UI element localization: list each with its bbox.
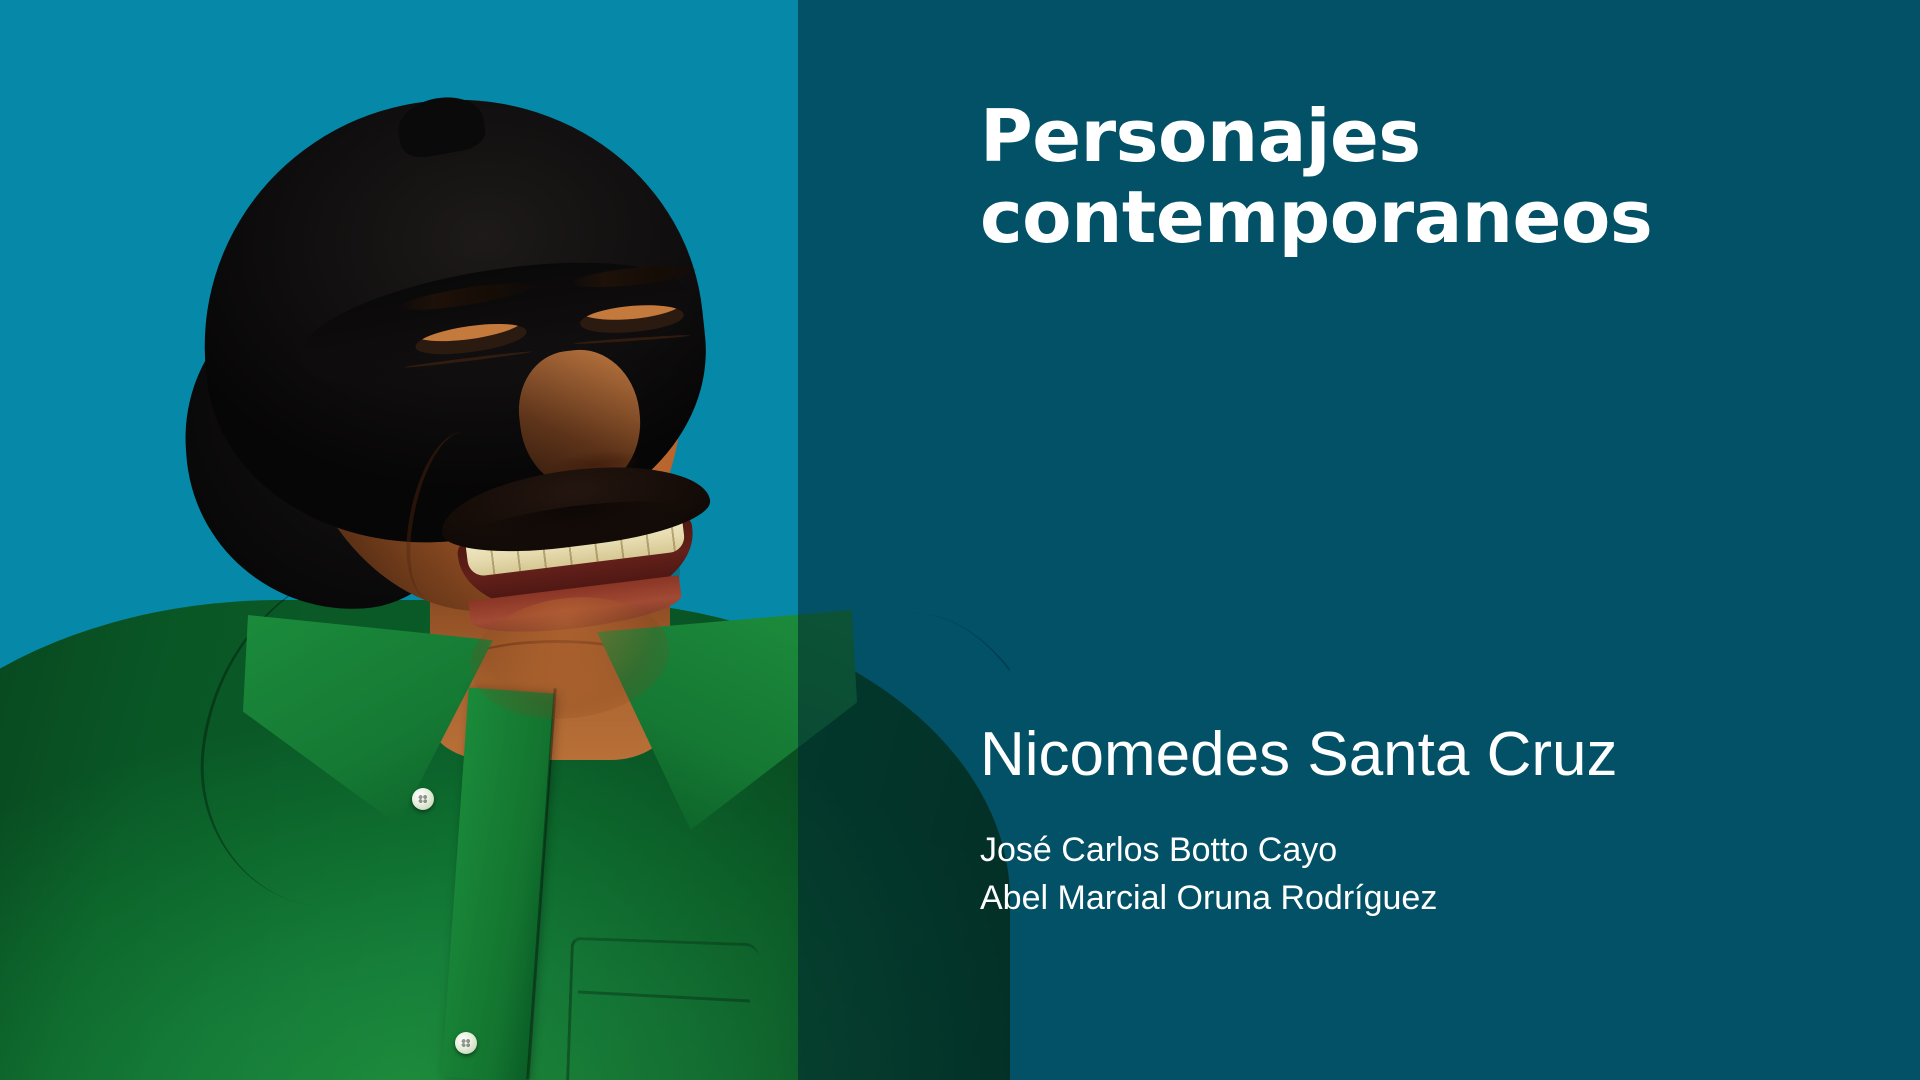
shirt-button-upper — [412, 788, 434, 810]
page-title-line-1: Personajes — [980, 96, 1860, 177]
subject-name: Nicomedes Santa Cruz — [980, 722, 1860, 787]
title-slide: Personajes contemporaneos Nicomedes Sant… — [0, 0, 1920, 1080]
shirt-chest-pocket — [565, 937, 759, 1080]
page-title-line-2: contemporaneos — [980, 177, 1860, 258]
text-column: Personajes contemporaneos Nicomedes Sant… — [980, 0, 1860, 1080]
author-name-1: José Carlos Botto Cayo — [980, 826, 1860, 874]
author-list: José Carlos Botto Cayo Abel Marcial Orun… — [980, 826, 1860, 923]
shirt-button-lower — [455, 1032, 477, 1054]
author-name-2: Abel Marcial Oruna Rodríguez — [980, 874, 1860, 922]
page-title: Personajes contemporaneos — [980, 96, 1860, 257]
